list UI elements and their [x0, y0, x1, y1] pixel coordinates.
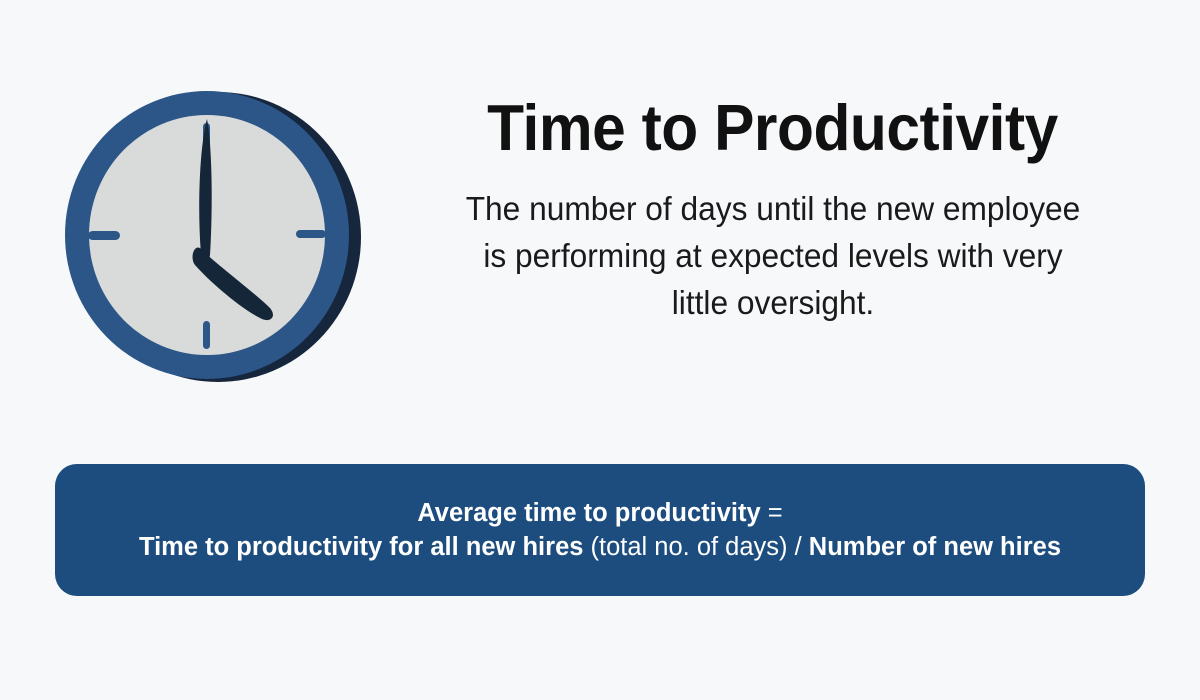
formula-line-2: Time to productivity for all new hires (… [139, 530, 1061, 564]
formula-line2-part-1: Time to productivity for all new hires [139, 533, 583, 561]
formula-line1-part-1: Average time to productivity [417, 499, 760, 527]
formula-banner: Average time to productivity = Time to p… [55, 464, 1145, 596]
formula-line1-part-2: = [761, 499, 783, 527]
page-description: The number of days until the new employe… [456, 186, 1090, 327]
clock-tick-6 [203, 321, 210, 349]
hero-text-block: Time to Productivity The number of days … [400, 0, 1200, 327]
clock-illustration-container [0, 0, 400, 440]
page-title: Time to Productivity [426, 95, 1119, 160]
formula-line2-part-3: Number of new hires [809, 533, 1061, 561]
clock-tick-3 [296, 230, 326, 238]
formula-line2-part-2: (total no. of days) / [583, 533, 808, 561]
wall-clock-icon [55, 85, 365, 385]
hero-section: Time to Productivity The number of days … [0, 0, 1200, 440]
clock-tick-9 [88, 231, 120, 240]
formula-line-1: Average time to productivity = [417, 496, 782, 530]
